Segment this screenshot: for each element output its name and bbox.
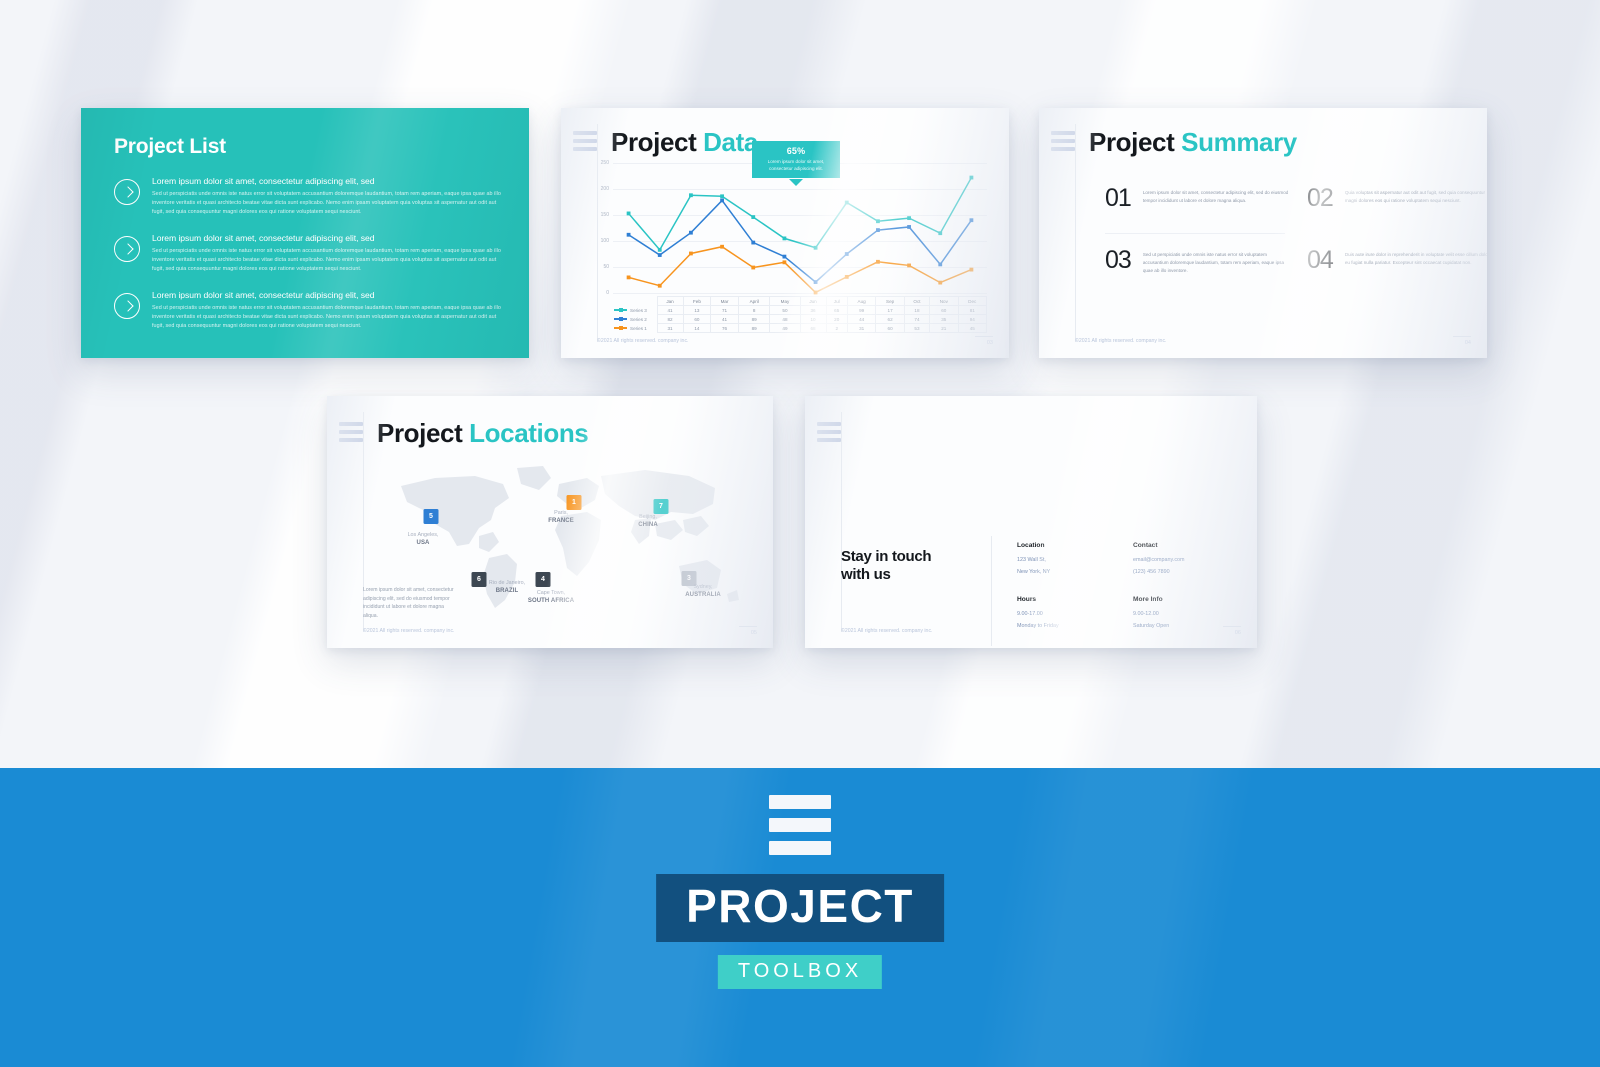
table-cell: 81 (958, 306, 986, 315)
table-cell: 18 (904, 306, 929, 315)
page-title: Project List (114, 135, 226, 159)
map-pin-5[interactable]: 5 (424, 509, 439, 524)
hamburger-icon[interactable] (817, 422, 841, 442)
hamburger-icon[interactable] (573, 131, 597, 151)
page-title-accent: Data (703, 127, 758, 157)
list-item-body: Sed ut perspiciatis unde omnis iste natu… (152, 304, 504, 330)
table-cell: 89 (738, 315, 770, 324)
slide-project-data[interactable]: Project Data 050100150200250 65% Lorem i… (561, 108, 1009, 358)
table-cell: 20 (826, 315, 847, 324)
page-title-main: Project (377, 418, 469, 448)
series-marker[interactable] (689, 193, 693, 197)
chevron-right-icon (114, 236, 140, 262)
table-cell: 50 (770, 306, 800, 315)
block-line-1[interactable]: email@company.com (1133, 554, 1243, 566)
table-col-header: Nov (930, 297, 958, 306)
series-marker[interactable] (751, 215, 755, 219)
summary-cell-01[interactable]: 01 Lorem ipsum dolor sit amet, consectet… (1105, 186, 1293, 211)
table-row[interactable]: Series 341137185036659917186081 (613, 306, 987, 315)
page-title-main: Project (1089, 127, 1181, 157)
table-col-header: Mar (711, 297, 739, 306)
y-axis-tick: 0 (606, 290, 609, 296)
pin-number: 4 (541, 576, 545, 583)
series-marker[interactable] (970, 176, 974, 180)
series-marker[interactable] (783, 260, 787, 264)
table-cell: 60 (683, 315, 711, 324)
series-marker[interactable] (814, 291, 818, 295)
table-cell: 68 (800, 324, 826, 333)
table-cell: 82 (657, 315, 683, 324)
map-city-label-cape-town: Cape Town,SOUTH AFRICA (528, 590, 574, 605)
table-col-header: Sep (876, 297, 904, 306)
list-item-heading: Lorem ipsum dolor sit amet, consectetur … (152, 176, 504, 186)
table-col-header: Jun (800, 297, 826, 306)
block-line-1: 123 Wall St, (1017, 554, 1127, 566)
block-title: Location (1017, 542, 1127, 549)
line-chart[interactable]: 050100150200250 65% Lorem ipsum dolor si… (613, 163, 987, 293)
block-title: Contact (1133, 542, 1243, 549)
series-marker[interactable] (970, 218, 974, 222)
summary-number: 04 (1307, 248, 1333, 273)
list-item[interactable]: Lorem ipsum dolor sit amet, consectetur … (114, 290, 504, 330)
brand-subtitle: TOOLBOX (718, 955, 882, 989)
table-corner (613, 297, 657, 306)
table-col-header: April (738, 297, 770, 306)
list-item[interactable]: Lorem ipsum dolor sit amet, consectetur … (114, 233, 504, 273)
block-line-2[interactable]: (123) 456 7890 (1133, 566, 1243, 578)
block-title: Hours (1017, 596, 1127, 603)
series-marker[interactable] (720, 194, 724, 198)
table-cell: 31 (847, 324, 875, 333)
table-cell: 89 (738, 324, 770, 333)
summary-number: 02 (1307, 186, 1333, 211)
table-cell: 13 (683, 306, 711, 315)
tooltip-text: Lorem ipsum dolor sit amet, consectetur … (760, 158, 832, 172)
list-item-body: Sed ut perspiciatis unde omnis iste natu… (152, 247, 504, 273)
slide-contact[interactable]: Stay in touch with us Location 123 Wall … (805, 396, 1257, 648)
pin-number: 3 (687, 575, 691, 582)
table-col-header: Dec (958, 297, 986, 306)
map-city-label-los-angeles: Los Angeles,USA (408, 532, 439, 547)
y-axis-tick: 200 (601, 186, 609, 192)
series-marker[interactable] (689, 252, 693, 256)
hamburger-icon[interactable] (1051, 131, 1075, 151)
table-cell: 41 (711, 315, 739, 324)
summary-text: Sed ut perspiciatis unde omnis iste natu… (1143, 248, 1293, 275)
series-marker[interactable] (658, 284, 662, 288)
summary-cell-04[interactable]: 04 Duis aute irure dolor in reprehenderi… (1307, 248, 1487, 273)
slide-project-list[interactable]: Project List Lorem ipsum dolor sit amet,… (81, 108, 529, 358)
slide-page-number: 03 (987, 340, 993, 346)
y-axis-tick: 250 (601, 160, 609, 166)
table-cell: 49 (770, 324, 800, 333)
summary-text: Quia voluptas sit aspernatur aut odit au… (1345, 186, 1487, 211)
slide-footer-left: ©2021 All rights reserved. company inc. (363, 627, 454, 636)
table-row[interactable]: Series 2826041894810204462743594 (613, 315, 987, 324)
divider (841, 412, 842, 632)
series-marker[interactable] (845, 275, 849, 279)
y-axis: 050100150200250 (589, 163, 611, 293)
table-cell: 17 (876, 306, 904, 315)
series-marker[interactable] (907, 264, 911, 268)
table-cell: 94 (958, 315, 986, 324)
block-line-1: 9.00-12.00 (1133, 608, 1243, 620)
summary-text: Duis aute irure dolor in reprehenderit i… (1345, 248, 1487, 273)
summary-number: 03 (1105, 248, 1131, 275)
table-cell: 44 (847, 315, 875, 324)
slide-page-number: 06 (1235, 630, 1241, 636)
slide-footer-left: ©2021 All rights reserved. company inc. (841, 627, 932, 636)
table-col-header: Oct (904, 297, 929, 306)
tooltip-percent: 65% (760, 146, 832, 156)
map-pin-4[interactable]: 4 (536, 572, 551, 587)
table-col-header: Jul (826, 297, 847, 306)
slide-footer-left: ©2021 All rights reserved. company inc. (597, 337, 688, 346)
contact-block-hours: Hours 9.00-17.00 Monday to Friday (1017, 596, 1127, 632)
slide-project-locations[interactable]: Project Locations (327, 396, 773, 648)
y-axis-tick: 150 (601, 212, 609, 218)
table-cell: 76 (711, 324, 739, 333)
page-title: Project Summary (1089, 127, 1297, 158)
block-line-1: 9.00-17.00 (1017, 608, 1127, 620)
series-marker[interactable] (814, 246, 818, 250)
map-city-label-sydney: Sydney,AUSTRALIA (685, 584, 721, 599)
table-cell: 36 (800, 306, 826, 315)
map-pin-1[interactable]: 1 (567, 495, 582, 510)
table-cell: 62 (876, 315, 904, 324)
chevron-right-icon (114, 293, 140, 319)
table-cell: 74 (904, 315, 929, 324)
table-col-header: May (770, 297, 800, 306)
map-pin-7[interactable]: 7 (654, 499, 669, 514)
series-marker[interactable] (627, 233, 631, 237)
series-marker[interactable] (658, 253, 662, 257)
table-cell: 35 (930, 315, 958, 324)
table-cell: 99 (847, 306, 875, 315)
slide-footer-left: ©2021 All rights reserved. company inc. (1075, 337, 1166, 346)
series-marker[interactable] (876, 219, 880, 223)
table-col-header: Jan (657, 297, 683, 306)
series-marker[interactable] (720, 245, 724, 249)
brand-title: PROJECT (656, 874, 944, 942)
hamburger-icon[interactable] (339, 422, 363, 442)
series-marker[interactable] (627, 212, 631, 216)
table-col-header: Aug (847, 297, 875, 306)
chart-data-table[interactable]: JanFebMarAprilMayJunJulAugSepOctNovDecSe… (613, 296, 987, 333)
series-marker[interactable] (970, 268, 974, 272)
table-row[interactable]: Series 131147689496823160532145 (613, 324, 987, 333)
series-marker[interactable] (627, 276, 631, 280)
chevron-right-icon (114, 179, 140, 205)
summary-divider (1105, 233, 1285, 234)
page-title: Project Data (611, 127, 758, 158)
map-pin-6[interactable]: 6 (472, 572, 487, 587)
series-marker[interactable] (907, 216, 911, 220)
table-cell: 60 (876, 324, 904, 333)
table-cell: 8 (738, 306, 770, 315)
map-city-label-rio: Rio de Janeiro,BRAZIL (489, 580, 525, 595)
series-marker[interactable] (907, 225, 911, 229)
series-marker[interactable] (751, 241, 755, 245)
series-marker[interactable] (783, 237, 787, 241)
contact-block-contact: Contact email@company.com (123) 456 7890 (1133, 542, 1243, 578)
table-cell: 2 (826, 324, 847, 333)
page-title: Project Locations (377, 418, 588, 449)
table-cell: 10 (800, 315, 826, 324)
map-city-label-paris: Paris,FRANCE (548, 510, 574, 525)
block-line-2: Monday to Friday (1017, 620, 1127, 632)
slide-project-summary[interactable]: Project Summary 01 Lorem ipsum dolor sit… (1039, 108, 1487, 358)
series-marker[interactable] (720, 199, 724, 203)
list-item-body: Sed ut perspiciatis unde omnis iste natu… (152, 190, 504, 216)
series-marker[interactable] (938, 281, 942, 285)
y-axis-tick: 100 (601, 238, 609, 244)
legend-entry[interactable]: Series 3 (613, 306, 657, 315)
contact-block-location: Location 123 Wall St, New York, NY (1017, 542, 1127, 578)
table-cell: 65 (826, 306, 847, 315)
series-marker[interactable] (658, 248, 662, 252)
pin-number: 5 (429, 513, 433, 520)
series-marker[interactable] (783, 255, 787, 259)
page-title-accent: Locations (469, 418, 588, 448)
slide-page-number: 05 (751, 630, 757, 636)
list-item-heading: Lorem ipsum dolor sit amet, consectetur … (152, 233, 504, 243)
table-cell: 53 (904, 324, 929, 333)
legend-entry[interactable]: Series 1 (613, 324, 657, 333)
list-item[interactable]: Lorem ipsum dolor sit amet, consectetur … (114, 176, 504, 216)
table-cell: 41 (657, 306, 683, 315)
page-title: Stay in touch with us (841, 548, 961, 585)
summary-text: Lorem ipsum dolor sit amet, consectetur … (1143, 186, 1293, 211)
table-cell: 21 (930, 324, 958, 333)
page-title-main: Project (611, 127, 703, 157)
series-marker[interactable] (938, 231, 942, 235)
map-city-label-beijing: Beijing,CHINA (638, 514, 658, 529)
series-line-series-2[interactable] (629, 200, 972, 282)
table-cell: 71 (711, 306, 739, 315)
series-marker[interactable] (938, 263, 942, 267)
table-cell: 48 (770, 315, 800, 324)
legend-entry[interactable]: Series 2 (613, 315, 657, 324)
y-axis-tick: 50 (603, 264, 609, 270)
brand-hamburger-logo-icon (769, 795, 831, 855)
summary-cell-03[interactable]: 03 Sed ut perspiciatis unde omnis iste n… (1105, 248, 1293, 275)
list-item-heading: Lorem ipsum dolor sit amet, consectetur … (152, 290, 504, 300)
chart-tooltip[interactable]: 65% Lorem ipsum dolor sit amet, consecte… (752, 141, 840, 178)
series-marker[interactable] (814, 280, 818, 284)
pin-number: 6 (477, 576, 481, 583)
series-marker[interactable] (876, 260, 880, 264)
block-title: More Info (1133, 596, 1243, 603)
vertical-divider (991, 536, 992, 646)
series-marker[interactable] (876, 228, 880, 232)
series-marker[interactable] (751, 266, 755, 270)
table-cell: 14 (683, 324, 711, 333)
pin-number: 1 (572, 499, 576, 506)
table-cell: 45 (958, 324, 986, 333)
slide-page-number: 04 (1465, 340, 1471, 346)
locations-note: Lorem ipsum dolor sit amet, consectetur … (363, 586, 455, 620)
table-cell: 31 (657, 324, 683, 333)
table-col-header: Feb (683, 297, 711, 306)
series-marker[interactable] (689, 231, 693, 235)
pin-number: 7 (659, 503, 663, 510)
page-title-accent: Summary (1181, 127, 1297, 157)
grid-line (613, 293, 987, 294)
summary-cell-02[interactable]: 02 Quia voluptas sit aspernatur aut odit… (1307, 186, 1487, 211)
series-marker[interactable] (845, 252, 849, 256)
divider (1075, 124, 1076, 342)
series-marker[interactable] (845, 201, 849, 205)
block-line-2: New York, NY (1017, 566, 1127, 578)
table-cell: 60 (930, 306, 958, 315)
summary-number: 01 (1105, 186, 1131, 211)
